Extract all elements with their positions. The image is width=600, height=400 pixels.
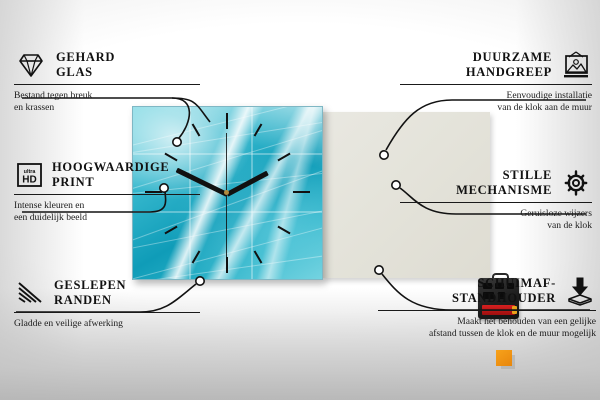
feature-description-line2: van de klok <box>400 220 592 232</box>
feature-title: GEHARD GLAS <box>56 50 115 80</box>
hanging-picture-frame-icon <box>560 50 592 80</box>
feature-description-line1: Bestand tegen breuk <box>14 90 200 102</box>
clock-tick <box>226 257 228 273</box>
feature-divider <box>400 202 592 203</box>
feature-stille-mechanisme: STILLE MECHANISME Geruisloze wijzers van… <box>400 168 592 232</box>
clock-tick <box>277 226 290 235</box>
feature-description-line1: Maakt het behouden van een gelijke <box>378 316 596 328</box>
feature-header: GEHARD GLAS <box>14 50 200 80</box>
foam-spacer-down-arrow-icon <box>564 276 596 306</box>
clock-tick <box>254 123 263 136</box>
diamond-icon <box>14 51 48 79</box>
feature-header: GESLEPEN RANDEN <box>14 278 200 308</box>
bevelled-edge-icon <box>14 280 46 306</box>
feature-description-line1: Gladde en veilige afwerking <box>14 318 200 330</box>
infographic-canvas: GEHARD GLAS Bestand tegen breuk en krass… <box>0 0 600 400</box>
feature-divider <box>400 84 592 85</box>
clock-center-pin <box>224 190 229 195</box>
feature-description-line2: en krassen <box>14 102 200 114</box>
feature-description-line1: Eenvoudige installatie <box>400 90 592 102</box>
feature-header: SCHUIMAF- STANDHOUDER <box>378 276 596 306</box>
feature-divider <box>14 194 200 195</box>
svg-text:HD: HD <box>22 175 36 186</box>
feature-description-line2: van de klok aan de muur <box>400 102 592 114</box>
ultra-hd-icon: ultra HD <box>14 161 44 189</box>
feature-divider <box>378 310 596 311</box>
feature-title: GESLEPEN RANDEN <box>54 278 126 308</box>
foam-spacer <box>496 350 512 366</box>
feature-title: SCHUIMAF- STANDHOUDER <box>452 276 556 306</box>
feature-geslepen-randen: GESLEPEN RANDEN Gladde en veilige afwerk… <box>14 278 200 330</box>
feature-description-line2: een duidelijk beeld <box>14 212 200 224</box>
feature-title: DUURZAME HANDGREEP <box>466 50 552 80</box>
feature-description-line1: Geruisloze wijzers <box>400 208 592 220</box>
feature-schuimafstandhouder: SCHUIMAF- STANDHOUDER Maakt het behouden… <box>378 276 596 340</box>
feature-hoogwaardige-print: ultra HD HOOGWAARDIGE PRINT Intense kleu… <box>14 160 200 224</box>
feature-gehard-glas: GEHARD GLAS Bestand tegen breuk en krass… <box>14 50 200 114</box>
feature-header: ultra HD HOOGWAARDIGE PRINT <box>14 160 200 190</box>
feature-header: DUURZAME HANDGREEP <box>400 50 592 80</box>
feature-title: HOOGWAARDIGE PRINT <box>52 160 169 190</box>
feature-header: STILLE MECHANISME <box>400 168 592 198</box>
clock-tick <box>226 113 228 129</box>
feature-divider <box>14 84 200 85</box>
feature-description-line1: Intense kleuren en <box>14 200 200 212</box>
feature-description-line2: afstand tussen de klok en de muur mogeli… <box>378 328 596 340</box>
feature-divider <box>14 312 200 313</box>
gear-icon <box>560 168 592 198</box>
feature-duurzame-handgreep: DUURZAME HANDGREEP Eenvoudige installati… <box>400 50 592 114</box>
feature-title: STILLE MECHANISME <box>456 168 552 198</box>
clock-tick <box>293 191 310 193</box>
clock-tick <box>254 250 263 263</box>
